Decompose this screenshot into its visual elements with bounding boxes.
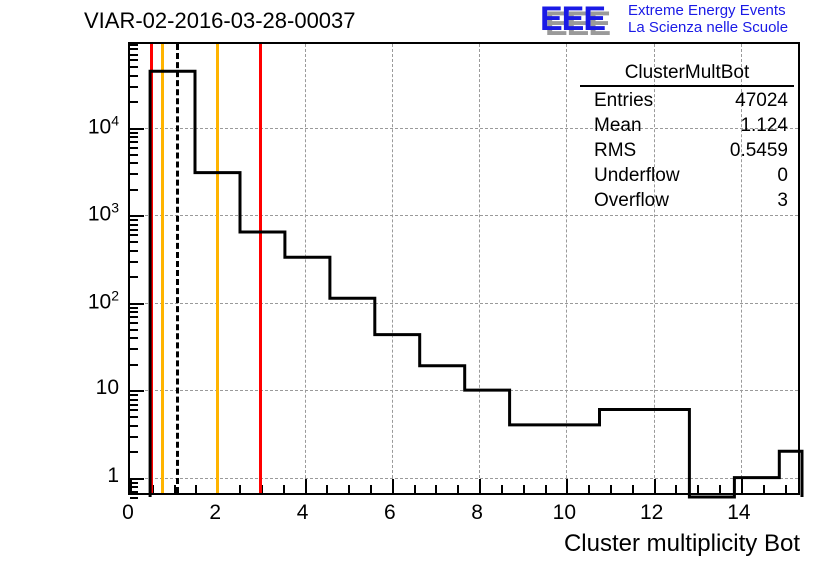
page-title: VIAR-02-2016-03-28-00037 <box>84 8 356 34</box>
y-tick-label: 10 <box>96 376 119 400</box>
stats-row: Mean1.124 <box>580 113 794 138</box>
stats-row-key: Overflow <box>594 188 669 213</box>
y-tick-minor <box>130 497 138 499</box>
y-tick-label: 1 <box>107 464 119 488</box>
stats-row-value: 0.5459 <box>730 138 788 163</box>
y-tick-label: 104 <box>88 112 119 139</box>
stats-box-title: ClusterMultBot <box>580 62 794 87</box>
stats-row-key: Entries <box>594 88 653 113</box>
stats-box-rows: Entries47024Mean1.124RMS0.5459Underflow0… <box>580 88 794 213</box>
stats-row-value: 3 <box>777 188 788 213</box>
eee-logo-letters: EEE <box>540 2 605 36</box>
stats-row-value: 0 <box>777 163 788 188</box>
x-tick-label: 8 <box>471 501 483 525</box>
x-tick-label: 12 <box>640 501 663 525</box>
eee-logo-text: Extreme Energy Events La Scienza nelle S… <box>628 2 788 36</box>
stats-row-key: Mean <box>594 113 642 138</box>
x-tick-label: 2 <box>209 501 221 525</box>
eee-logo-line2: La Scienza nelle Scuole <box>628 19 788 36</box>
root-canvas: VIAR-02-2016-03-28-00037 EEE EEE Extreme… <box>0 0 836 572</box>
x-tick-label: 4 <box>297 501 309 525</box>
stats-row-key: RMS <box>594 138 636 163</box>
stats-row-value: 1.124 <box>740 113 788 138</box>
stats-row-value: 47024 <box>735 88 788 113</box>
stats-row: Underflow0 <box>580 163 794 188</box>
eee-logo-line1: Extreme Energy Events <box>628 2 788 19</box>
x-axis-title: Cluster multiplicity Bot <box>564 530 800 558</box>
stats-row-key: Underflow <box>594 163 680 188</box>
x-tick-label: 0 <box>122 501 134 525</box>
stats-box: ClusterMultBot Entries47024Mean1.124RMS0… <box>580 62 794 213</box>
y-tick-label: 102 <box>88 287 119 314</box>
eee-logo: EEE EEE Extreme Energy Events La Scienza… <box>540 2 832 38</box>
y-tick-label: 103 <box>88 200 119 227</box>
x-tick-label: 14 <box>727 501 750 525</box>
stats-row: Entries47024 <box>580 88 794 113</box>
x-tick-label: 6 <box>384 501 396 525</box>
stats-row: RMS0.5459 <box>580 138 794 163</box>
x-tick-label: 10 <box>553 501 576 525</box>
stats-row: Overflow3 <box>580 188 794 213</box>
